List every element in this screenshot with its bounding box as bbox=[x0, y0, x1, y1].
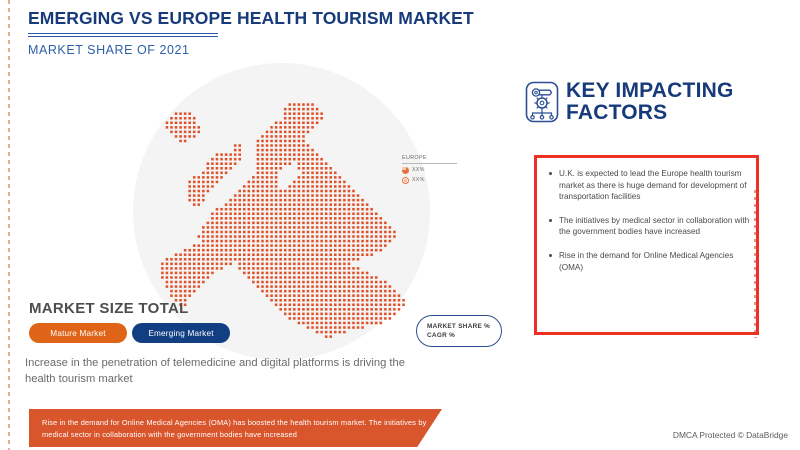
europe-legend-row: XX% bbox=[402, 167, 460, 174]
market-share-badge: MARKET SHARE % CAGR % bbox=[416, 315, 502, 347]
bullet-icon bbox=[549, 219, 552, 222]
highlight-banner: Rise in the demand for Online Medical Ag… bbox=[29, 409, 442, 447]
pie-slice-icon bbox=[402, 167, 409, 174]
key-impacting-factors-title: KEY IMPACTING FACTORS bbox=[566, 80, 734, 124]
highlight-banner-text: Rise in the demand for Online Medical Ag… bbox=[29, 409, 442, 440]
page-subtitle: MARKET SHARE OF 2021 bbox=[28, 43, 190, 57]
key-factors-box-dotted-edge bbox=[754, 190, 757, 338]
key-factors-list: U.K. is expected to lead the Europe heal… bbox=[549, 168, 754, 285]
europe-legend-row: XX% bbox=[402, 177, 460, 184]
europe-legend: EUROPE XX% XX% bbox=[402, 155, 460, 184]
legend-pill-mature-market[interactable]: Mature Market bbox=[29, 323, 127, 343]
kif-title-line-1: KEY IMPACTING bbox=[566, 80, 734, 102]
cagr-label: CAGR % bbox=[427, 332, 501, 339]
title-underline bbox=[28, 33, 218, 37]
footer-copyright: DMCA Protected © DataBridge bbox=[673, 430, 788, 440]
key-factor-item: Rise in the demand for Online Medical Ag… bbox=[549, 250, 754, 273]
description-text: Increase in the penetration of telemedic… bbox=[25, 355, 435, 387]
europe-legend-value: XX% bbox=[412, 167, 425, 173]
kif-title-line-2: FACTORS bbox=[566, 102, 734, 124]
market-share-label: MARKET SHARE % bbox=[427, 323, 501, 330]
legend-pill-emerging-market[interactable]: Emerging Market bbox=[132, 323, 230, 343]
key-factor-text: The initiatives by medical sector in col… bbox=[559, 215, 754, 238]
left-dotted-divider bbox=[8, 0, 10, 450]
bullet-icon bbox=[549, 254, 552, 257]
page-title: EMERGING VS EUROPE HEALTH TOURISM MARKET bbox=[28, 8, 474, 29]
europe-legend-title: EUROPE bbox=[402, 155, 457, 164]
bullet-icon bbox=[549, 172, 552, 175]
gear-network-icon bbox=[525, 81, 559, 123]
key-factor-item: The initiatives by medical sector in col… bbox=[549, 215, 754, 238]
key-factor-text: Rise in the demand for Online Medical Ag… bbox=[559, 250, 754, 273]
europe-legend-value: XX% bbox=[412, 177, 425, 183]
key-factor-text: U.K. is expected to lead the Europe heal… bbox=[559, 168, 754, 203]
key-factor-item: U.K. is expected to lead the Europe heal… bbox=[549, 168, 754, 203]
market-size-total-title: MARKET SIZE TOTAL bbox=[29, 300, 189, 317]
pie-slice-icon bbox=[402, 177, 409, 184]
